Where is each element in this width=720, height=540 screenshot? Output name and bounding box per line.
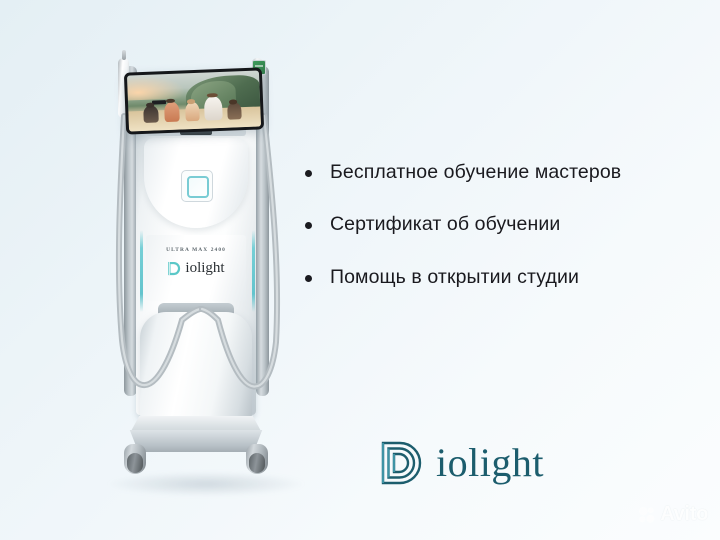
bullet-dot-icon (305, 222, 312, 229)
bullet-dot-icon (305, 170, 312, 177)
promo-slide: ULTRA MAX 2400 iolight (0, 0, 720, 540)
avito-watermark: Avito (638, 503, 708, 526)
list-item-label: Сертификат об обучении (330, 212, 560, 236)
iolight-d-monogram-icon (378, 440, 422, 486)
list-item-label: Бесплатное обучение мастеров (330, 160, 621, 184)
bullet-dot-icon (305, 275, 312, 282)
brand-logo: iolight (378, 440, 544, 486)
machine-touchscreen-display[interactable] (124, 67, 264, 134)
avito-dots-icon (638, 506, 655, 523)
list-item-label: Помощь в открытии студии (330, 265, 579, 289)
avito-label: Avito (660, 503, 708, 526)
brand-wordmark: iolight (436, 443, 544, 483)
benefits-list: Бесплатное обучение мастеров Сертификат … (305, 160, 695, 317)
display-photo-beach-scene (127, 70, 261, 131)
product-image-laser-machine: ULTRA MAX 2400 iolight (100, 20, 312, 520)
list-item: Бесплатное обучение мастеров (305, 160, 695, 184)
list-item: Сертификат об обучении (305, 212, 695, 236)
list-item: Помощь в открытии студии (305, 265, 695, 289)
